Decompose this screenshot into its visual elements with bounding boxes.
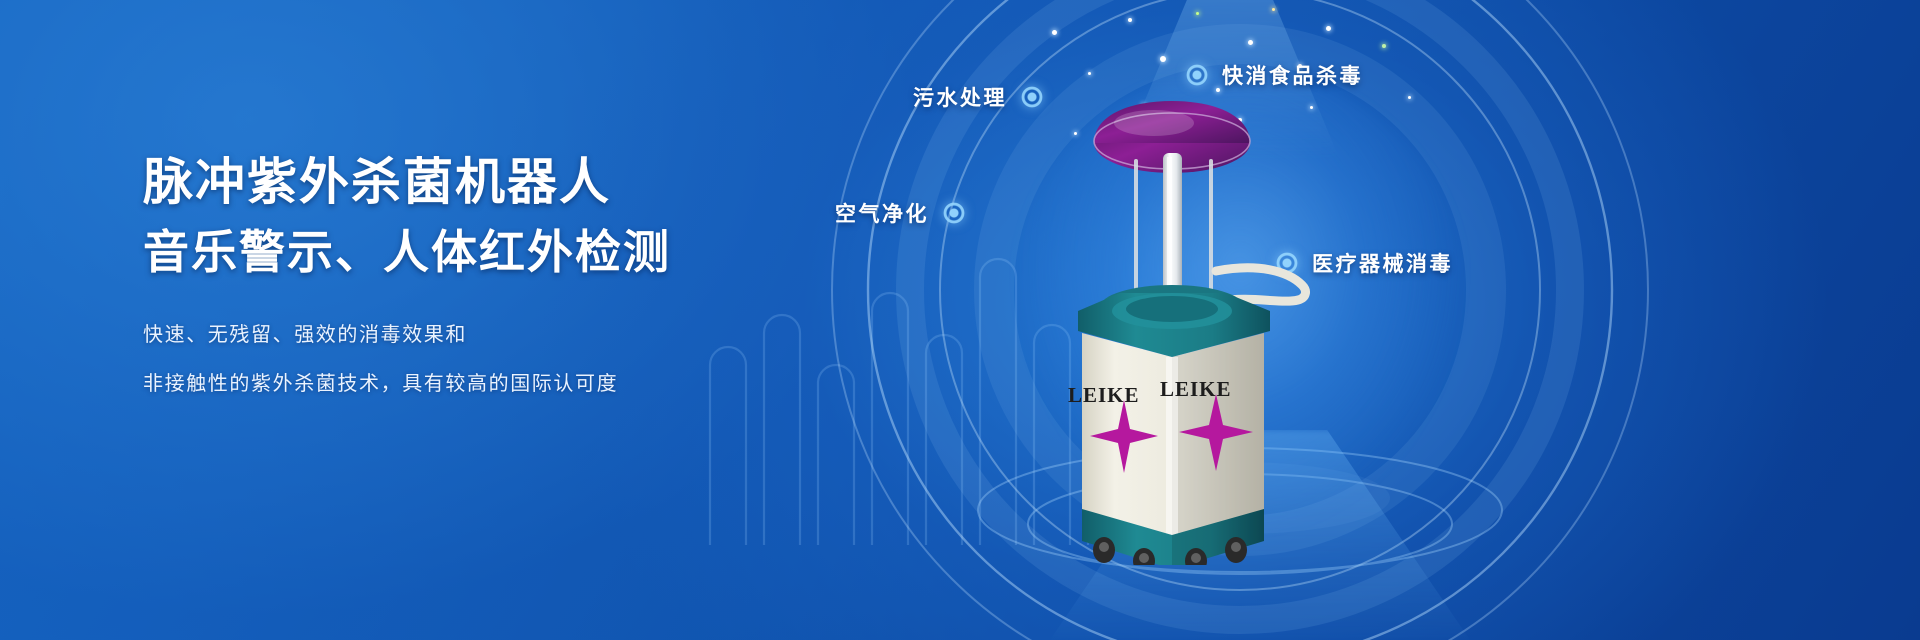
banner-root: 脉冲紫外杀菌机器人 音乐警示、人体红外检测 快速、无残留、强效的消毒效果和 非接…: [0, 0, 1920, 640]
callout-air-purification-label: 空气净化: [835, 198, 929, 228]
callout-air-purification[interactable]: 空气净化: [835, 198, 965, 228]
page-subtitle: 音乐警示、人体红外检测: [143, 222, 783, 284]
description-line-2: 非接触性的紫外杀菌技术，具有较高的国际认可度: [143, 367, 783, 396]
ring-marker-icon: [1186, 64, 1208, 86]
ring-marker-icon: [943, 202, 965, 224]
callout-fmcg-food-sterilization-label: 快消食品杀毒: [1222, 60, 1363, 90]
headline-block: 脉冲紫外杀菌机器人 音乐警示、人体红外检测 快速、无残留、强效的消毒效果和 非接…: [143, 150, 783, 416]
uv-disinfection-robot-illustration: LEIKE LEIKE: [1020, 95, 1460, 565]
page-title: 脉冲紫外杀菌机器人: [143, 150, 783, 214]
product-brand-left: LEIKE: [1068, 383, 1140, 408]
product-brand-right: LEIKE: [1160, 377, 1232, 402]
callout-wastewater-treatment-label: 污水处理: [913, 82, 1007, 112]
description-line-1: 快速、无残留、强效的消毒效果和: [143, 318, 783, 347]
description-block: 快速、无残留、强效的消毒效果和 非接触性的紫外杀菌技术，具有较高的国际认可度: [143, 318, 783, 396]
callout-fmcg-food-sterilization[interactable]: 快消食品杀毒: [1186, 60, 1363, 90]
